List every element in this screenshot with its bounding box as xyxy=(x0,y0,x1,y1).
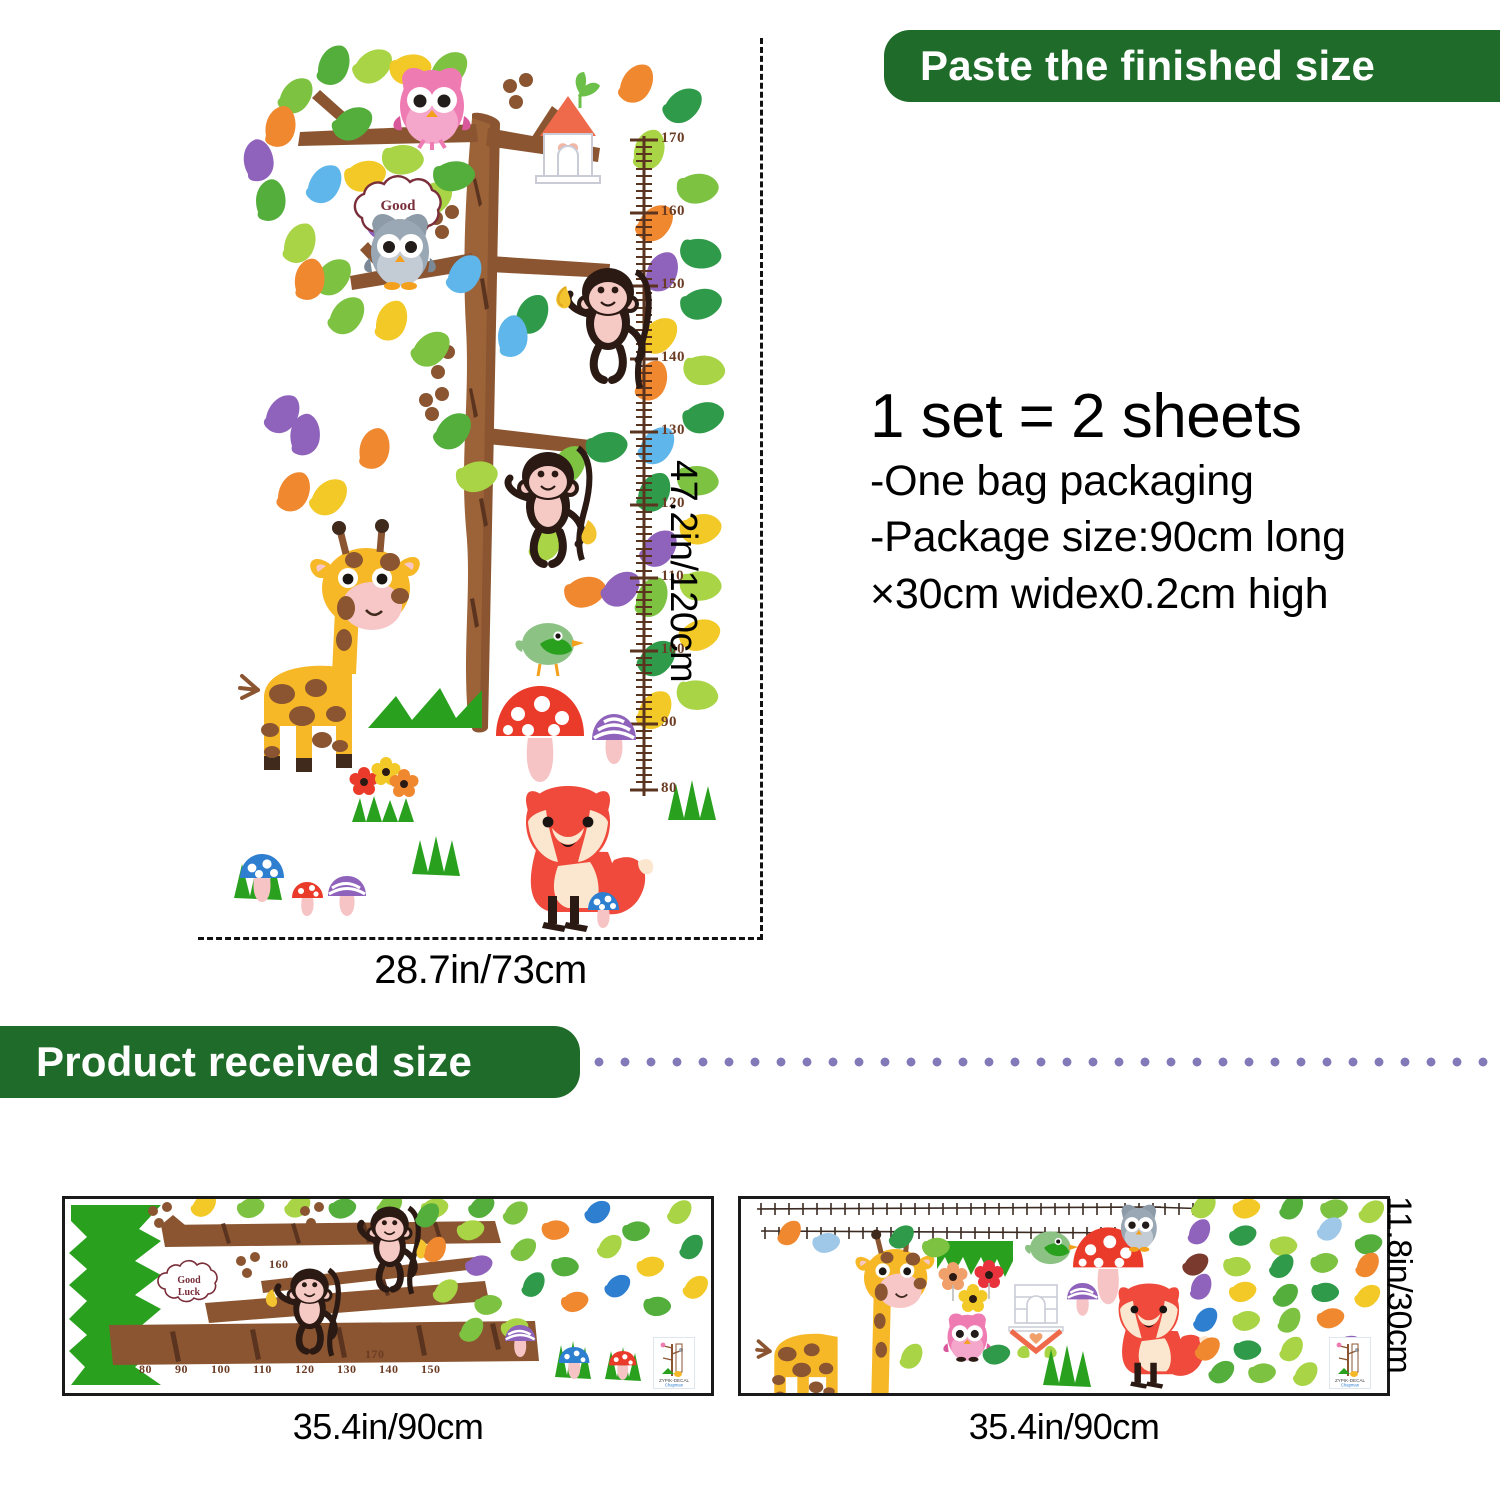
brand-logo-sheet1: ZYPIK-DECAL Chapman xyxy=(653,1337,695,1389)
banner-paste-finished-size: Paste the finished size xyxy=(884,30,1500,102)
svg-text:Luck: Luck xyxy=(178,1287,201,1298)
product-sheet-1: Good Luck xyxy=(62,1196,714,1396)
sheet1-num-140: 140 xyxy=(379,1362,399,1377)
banner-top-label: Paste the finished size xyxy=(920,42,1375,90)
svg-text:Chapman: Chapman xyxy=(665,1383,684,1388)
sheet1-num-160: 160 xyxy=(269,1257,289,1272)
sheet1-num-90: 90 xyxy=(175,1362,188,1377)
finished-width-label: 28.7in/73cm xyxy=(198,948,763,993)
svg-text:Chapman: Chapman xyxy=(1341,1383,1360,1388)
sheet1-num-150: 150 xyxy=(421,1362,441,1377)
info-line-1: -One bag packaging xyxy=(870,453,1490,510)
sheet1-num-100: 100 xyxy=(211,1362,231,1377)
dotted-divider xyxy=(586,1056,1500,1068)
brand-logo-sheet2: ZYPIK-DECAL Chapman xyxy=(1329,1337,1371,1389)
package-info-block: 1 set = 2 sheets -One bag packaging -Pac… xyxy=(870,382,1490,623)
info-line-2: -Package size:90cm long xyxy=(870,509,1490,566)
sheet2-caption: 35.4in/90cm xyxy=(738,1406,1390,1448)
banner-bottom-label: Product received size xyxy=(36,1038,472,1086)
sheet1-num-110: 110 xyxy=(253,1362,272,1377)
svg-text:Good: Good xyxy=(177,1275,201,1286)
sheet1-caption: 35.4in/90cm xyxy=(62,1406,714,1448)
sheet1-num-170: 170 xyxy=(365,1347,385,1362)
product-sheet-2: ZYPIK-DECAL Chapman xyxy=(738,1196,1390,1396)
sheet1-num-80: 80 xyxy=(139,1362,152,1377)
info-line-3: ×30cm widex0.2cm high xyxy=(870,566,1490,623)
banner-product-received-size: Product received size xyxy=(0,1026,580,1098)
finished-height-label: 47.2in/120cm xyxy=(661,460,704,682)
sheet1-num-120: 120 xyxy=(295,1362,315,1377)
sheet-height-label: 11.8in/30cm xyxy=(1379,1196,1418,1373)
infographic-canvas: Paste the finished size 1 set = 2 sheets… xyxy=(0,0,1500,1500)
info-title: 1 set = 2 sheets xyxy=(870,382,1490,453)
sheet1-num-130: 130 xyxy=(337,1362,357,1377)
